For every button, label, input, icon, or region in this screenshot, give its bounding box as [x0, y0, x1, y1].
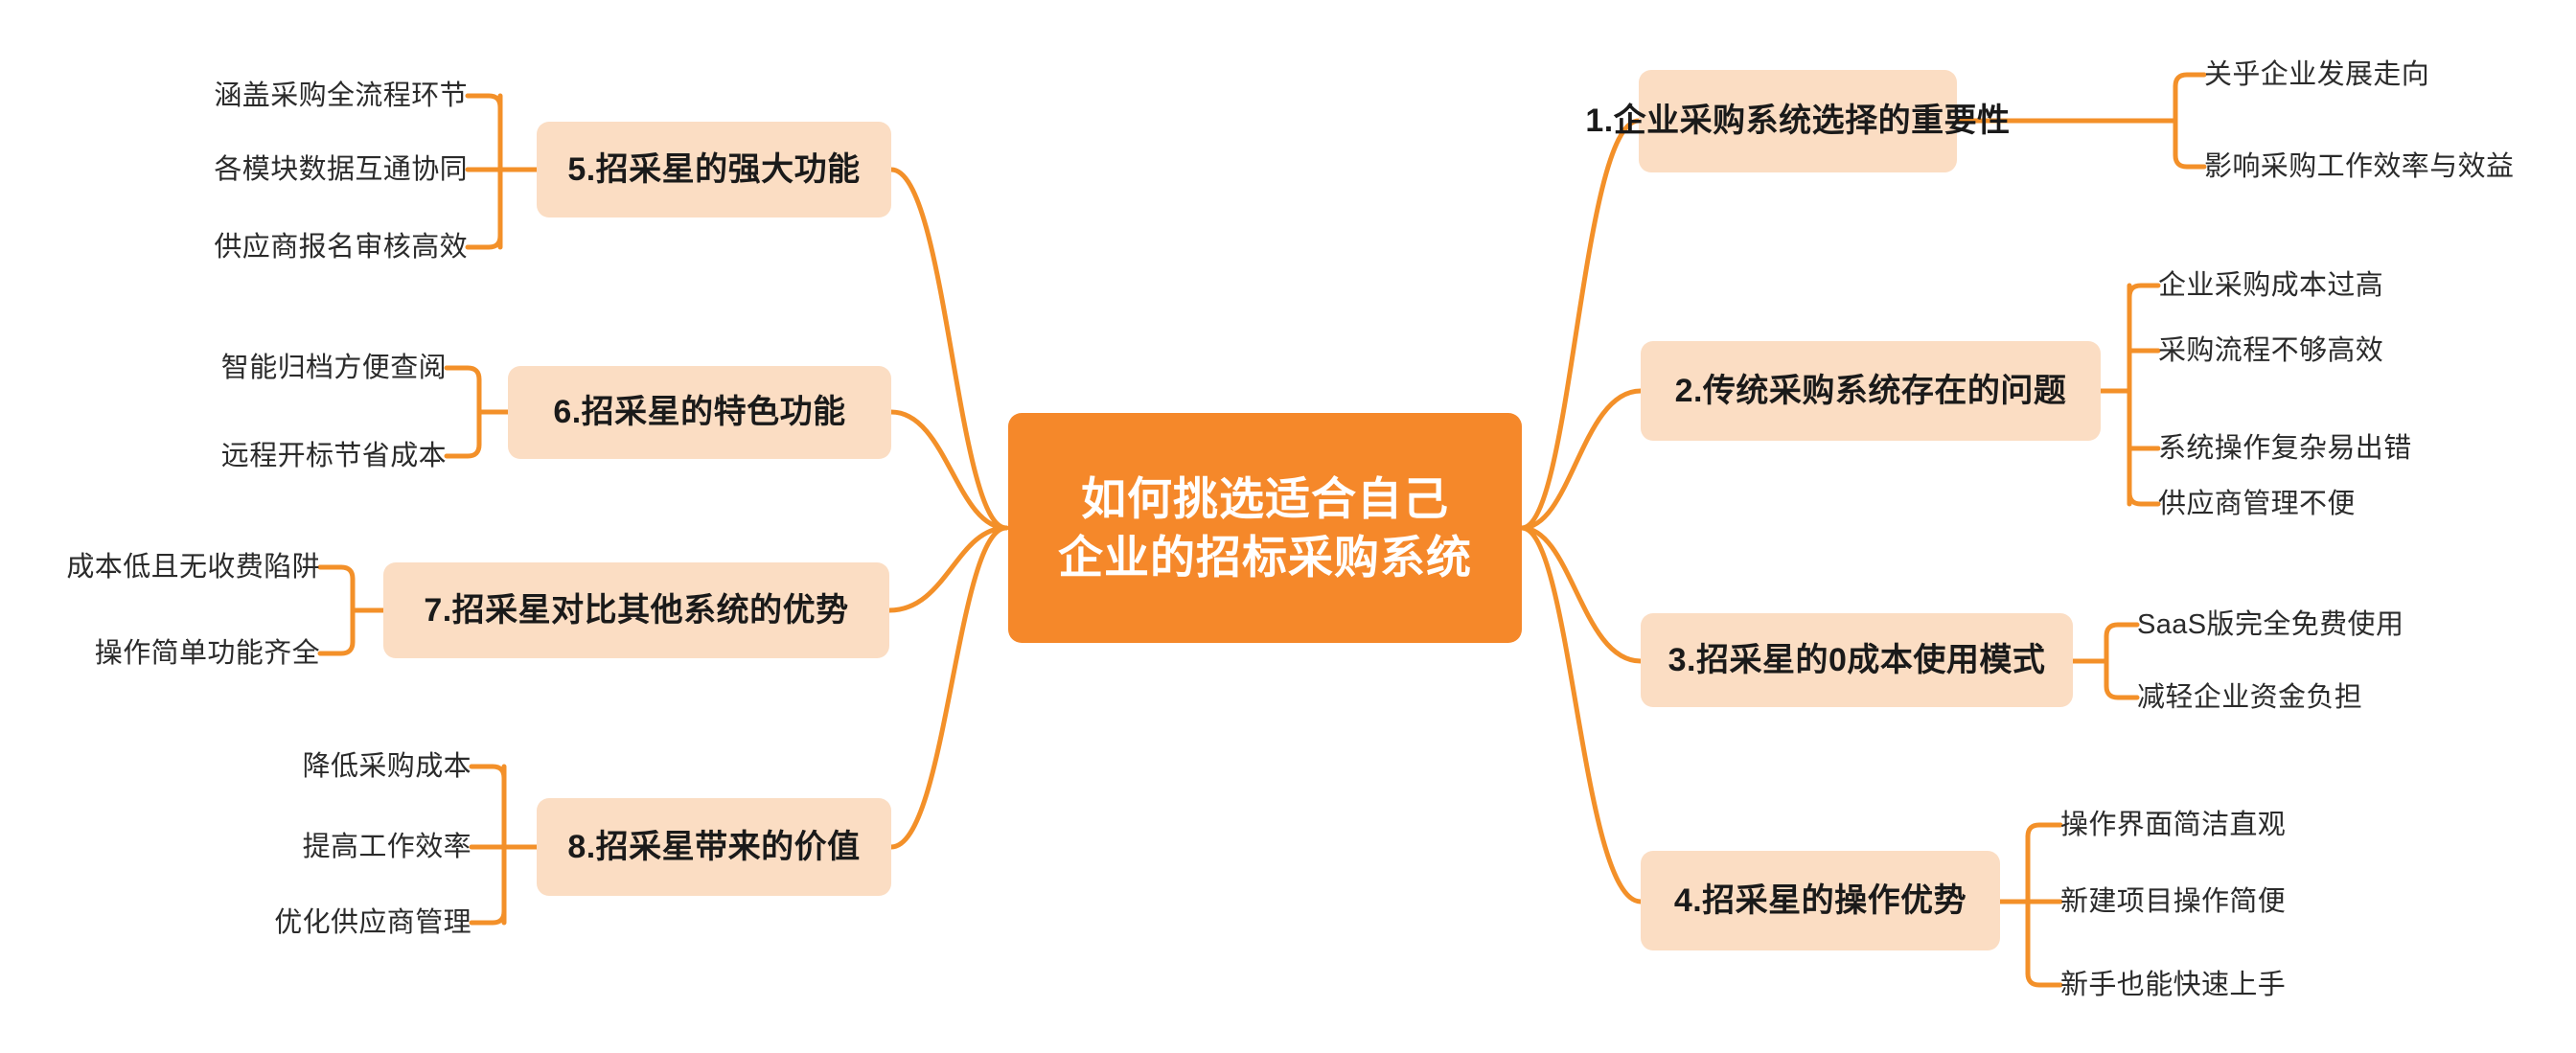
leaf-b8-1[interactable]: 提高工作效率	[261, 834, 471, 861]
leaf-b7-0[interactable]: 成本低且无收费陷阱	[33, 554, 320, 582]
branch-node-8[interactable]: 8.招采星带来的价值	[537, 798, 891, 896]
leaf-b4-0[interactable]: 操作界面简洁直观	[2060, 812, 2286, 839]
branch-node-4[interactable]: 4.招采星的操作优势	[1641, 851, 2000, 950]
wire-b6-l1	[447, 412, 479, 456]
wire-root-b4	[1522, 528, 1641, 902]
wire-b8-l2	[471, 911, 504, 923]
wire-b4-l2	[2028, 973, 2060, 985]
branch-label-7: 7.招采星对比其他系统的优势	[424, 591, 848, 630]
wire-b8-l0	[471, 767, 504, 778]
branch-label-8: 8.招采星带来的价值	[567, 828, 860, 867]
leaf-b1-0[interactable]: 关乎企业发展走向	[2204, 61, 2429, 89]
leaf-b3-1[interactable]: 减轻企业资金负担	[2137, 684, 2362, 712]
leaf-b3-0[interactable]: SaaS版完全免费使用	[2137, 611, 2403, 639]
wire-b7-l1	[320, 610, 353, 653]
leaf-b8-0[interactable]: 降低采购成本	[261, 753, 471, 781]
leaf-b5-2[interactable]: 供应商报名审核高效	[180, 234, 468, 262]
root-line-2: 企业的招标采购系统	[1058, 528, 1472, 586]
wire-b7-l0	[320, 567, 353, 610]
leaf-b1-1[interactable]: 影响采购工作效率与效益	[2204, 153, 2514, 181]
wire-root-b3	[1522, 528, 1641, 661]
leaf-b7-1[interactable]: 操作简单功能齐全	[33, 640, 320, 668]
wire-b5-l0	[468, 96, 500, 107]
branch-node-3[interactable]: 3.招采星的0成本使用模式	[1641, 613, 2073, 707]
leaf-b2-2[interactable]: 系统操作复杂易出错	[2158, 435, 2412, 463]
branch-label-6: 6.招采星的特色功能	[553, 393, 845, 432]
wire-root-b2	[1522, 391, 1641, 528]
branch-node-7[interactable]: 7.招采星对比其他系统的优势	[383, 562, 889, 658]
wire-root-b7	[889, 528, 1006, 610]
branch-node-2[interactable]: 2.传统采购系统存在的问题	[1641, 341, 2101, 441]
wire-b3-l1	[2106, 661, 2137, 698]
branch-label-1: 1.企业采购系统选择的重要性	[1585, 102, 2010, 141]
leaf-b8-2[interactable]: 优化供应商管理	[261, 909, 471, 937]
wire-root-b1	[1522, 121, 1639, 528]
wire-b1-l0	[2175, 75, 2204, 121]
leaf-b5-0[interactable]: 涵盖采购全流程环节	[180, 82, 468, 110]
leaf-b2-0[interactable]: 企业采购成本过高	[2158, 272, 2383, 300]
branch-label-4: 4.招采星的操作优势	[1674, 881, 1966, 921]
wire-b2-l0	[2129, 286, 2158, 297]
wire-b3-l0	[2106, 625, 2137, 661]
leaf-b6-1[interactable]: 远程开标节省成本	[188, 443, 447, 470]
leaf-b2-1[interactable]: 采购流程不够高效	[2158, 337, 2383, 365]
leaf-b2-3[interactable]: 供应商管理不便	[2158, 491, 2356, 518]
branch-label-3: 3.招采星的0成本使用模式	[1668, 641, 2046, 680]
wire-b1-l1	[2175, 121, 2204, 167]
root-node[interactable]: 如何挑选适合自己 企业的招标采购系统	[1008, 413, 1522, 643]
branch-node-5[interactable]: 5.招采星的强大功能	[537, 122, 891, 217]
wire-root-b6	[891, 412, 1006, 528]
branch-node-1[interactable]: 1.企业采购系统选择的重要性	[1639, 70, 1957, 172]
leaf-b4-1[interactable]: 新建项目操作简便	[2060, 888, 2286, 916]
branch-label-5: 5.招采星的强大功能	[567, 150, 860, 190]
leaf-b4-2[interactable]: 新手也能快速上手	[2060, 972, 2286, 999]
wire-b5-l2	[468, 236, 500, 247]
branch-node-6[interactable]: 6.招采星的特色功能	[508, 366, 891, 459]
wire-b4-l0	[2028, 825, 2060, 836]
wire-b2-l3	[2129, 492, 2158, 504]
root-line-1: 如何挑选适合自己	[1081, 469, 1449, 528]
branch-label-2: 2.传统采购系统存在的问题	[1675, 372, 2067, 411]
wire-b6-l0	[447, 368, 479, 412]
mindmap-canvas: 如何挑选适合自己 企业的招标采购系统 1.企业采购系统选择的重要性 2.传统采购…	[0, 0, 2576, 1053]
leaf-b5-1[interactable]: 各模块数据互通协同	[180, 156, 468, 184]
wire-root-b8	[891, 528, 1006, 847]
leaf-b6-0[interactable]: 智能归档方便查阅	[188, 355, 447, 382]
wire-root-b5	[891, 170, 1006, 528]
